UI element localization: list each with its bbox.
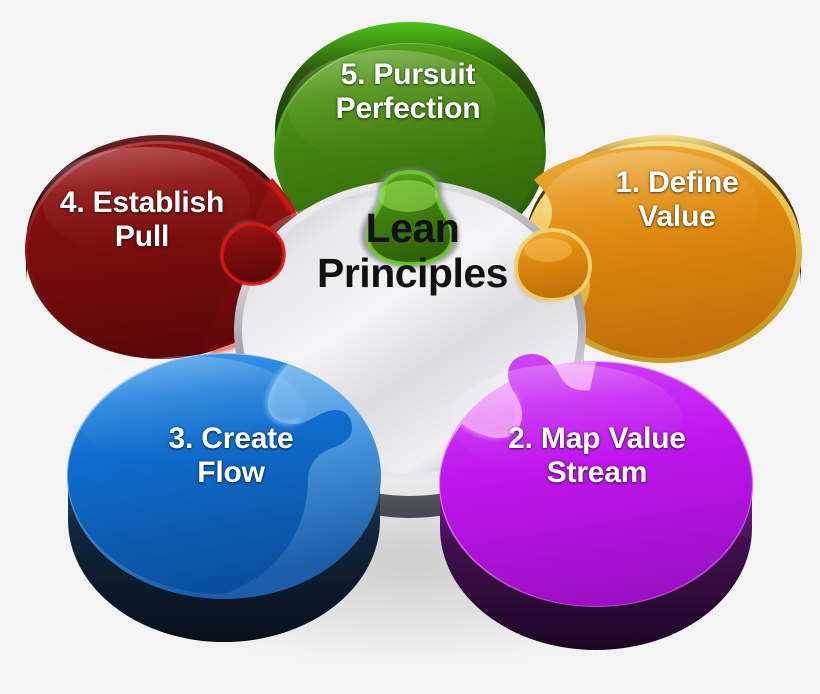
piece-gloss bbox=[450, 364, 682, 476]
red-knob-overlay bbox=[222, 222, 284, 284]
lean-principles-puzzle-wheel bbox=[0, 0, 820, 694]
puzzle-piece-create-flow[interactable] bbox=[67, 353, 381, 642]
orange-knob-gloss bbox=[524, 238, 572, 262]
green-knob-gloss bbox=[378, 180, 438, 212]
puzzle-piece-map-value-stream[interactable] bbox=[439, 354, 753, 650]
orange-knob-overlay bbox=[516, 230, 590, 300]
diagram-canvas: 5. Pursuit Perfection 1. Define Value 2.… bbox=[0, 0, 820, 694]
piece-gloss bbox=[288, 50, 496, 166]
piece-gloss bbox=[42, 147, 250, 257]
